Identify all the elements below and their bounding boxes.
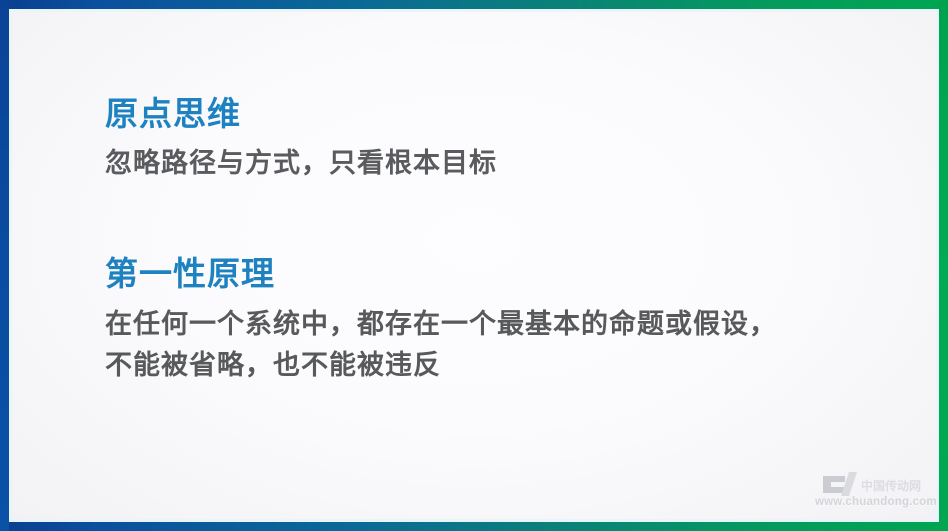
chuandong-logo-icon (819, 470, 863, 498)
frame-left-bar (0, 0, 9, 531)
frame-right-bar (939, 0, 948, 531)
watermark-cn-text: 中国传动网 (861, 477, 921, 494)
slide-canvas: 原点思维 忽略路径与方式，只看根本目标 第一性原理 在任何一个系统中，都存在一个… (9, 9, 939, 522)
section-2-body: 在任何一个系统中，都存在一个最基本的命题或假设， 不能被省略，也不能被违反 (105, 304, 895, 386)
frame-top-bar (0, 0, 948, 9)
watermark: 中国传动网 www.chuandong.com (813, 468, 931, 518)
content-block: 原点思维 忽略路径与方式，只看根本目标 第一性原理 在任何一个系统中，都存在一个… (105, 95, 895, 386)
section-1-subline: 忽略路径与方式，只看根本目标 (105, 146, 895, 181)
section-spacer (105, 181, 895, 255)
section-2-heading: 第一性原理 (105, 255, 895, 294)
section-1-heading: 原点思维 (105, 95, 895, 134)
frame-bottom-bar (0, 522, 948, 531)
watermark-url: www.chuandong.com (815, 496, 937, 508)
section-2-body-line-2: 不能被省略，也不能被违反 (105, 345, 895, 386)
slide: 原点思维 忽略路径与方式，只看根本目标 第一性原理 在任何一个系统中，都存在一个… (0, 0, 948, 531)
section-2-body-line-1: 在任何一个系统中，都存在一个最基本的命题或假设， (105, 304, 895, 345)
